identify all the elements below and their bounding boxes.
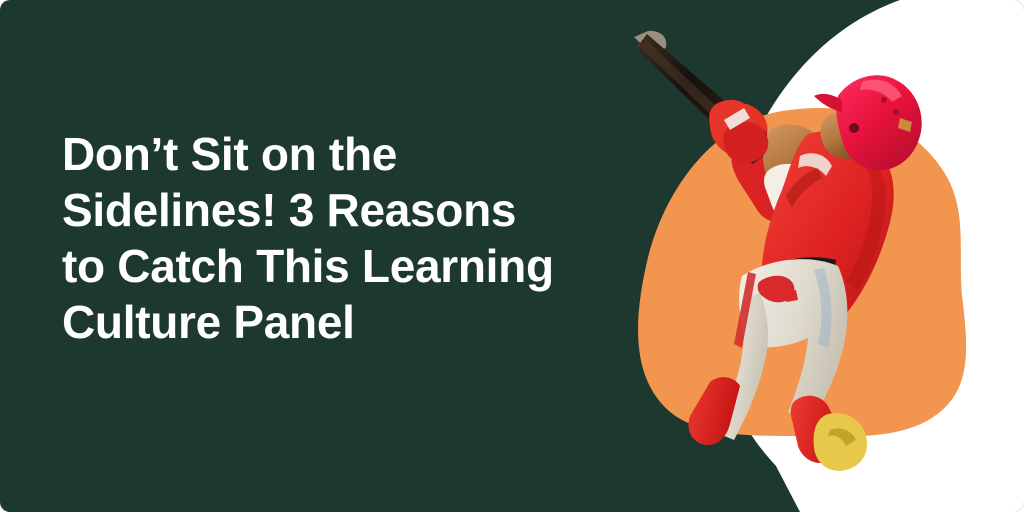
- page-title: Don’t Sit on the Sidelines! 3 Reasons to…: [62, 126, 622, 350]
- player-shoe: [814, 413, 868, 471]
- promo-banner: Don’t Sit on the Sidelines! 3 Reasons to…: [0, 0, 1024, 512]
- player-batting-gloves: [709, 100, 768, 163]
